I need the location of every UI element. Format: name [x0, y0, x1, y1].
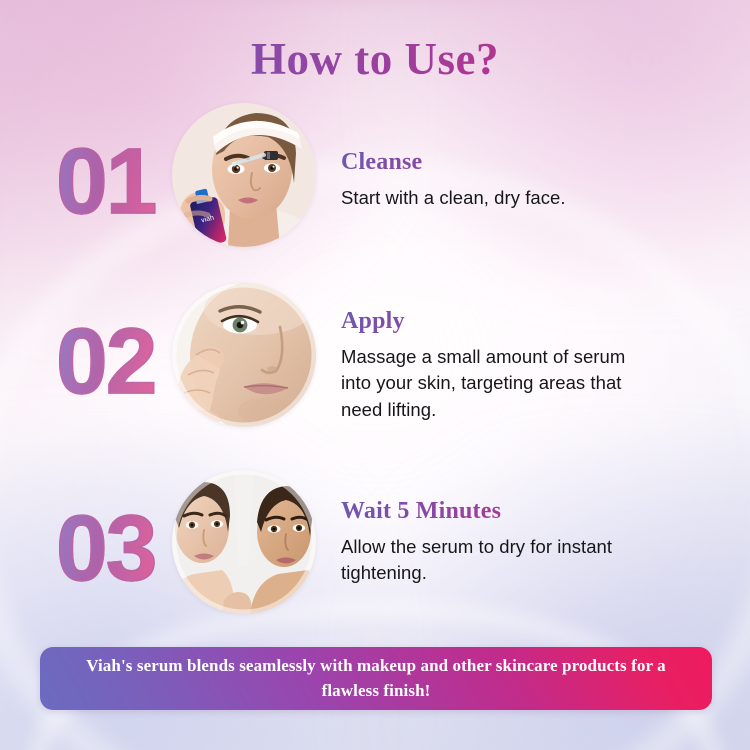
infographic-canvas: How to Use? 01 [0, 0, 750, 750]
woman-massaging-face-photo [172, 283, 316, 427]
step-body-3: Allow the serum to dry for instant tight… [341, 534, 641, 587]
step-text-2: Apply Massage a small amount of serum in… [341, 308, 641, 423]
step-number-3: 03 [56, 502, 155, 595]
footer-banner-text: Viah's serum blends seamlessly with make… [86, 654, 666, 703]
step-item-1: 01 [0, 103, 750, 258]
step-image-2 [172, 283, 316, 427]
woman-applying-serum-dropper-photo: viah [172, 103, 316, 247]
step-heading-1: Cleanse [341, 149, 641, 176]
step-image-1: viah [172, 103, 316, 247]
footer-banner: Viah's serum blends seamlessly with make… [40, 647, 712, 710]
step-body-2: Massage a small amount of serum into you… [341, 344, 641, 423]
step-image-3 [172, 470, 316, 614]
step-number-1: 01 [56, 135, 155, 228]
step-text-3: Wait 5 Minutes Allow the serum to dry fo… [341, 498, 641, 587]
step-body-1: Start with a clean, dry face. [341, 185, 641, 211]
step-item-2: 02 [0, 283, 750, 438]
step-heading-3: Wait 5 Minutes [341, 498, 641, 525]
two-women-glowing-skin-photo [172, 470, 316, 614]
step-text-1: Cleanse Start with a clean, dry face. [341, 149, 641, 211]
step-heading-2: Apply [341, 308, 641, 335]
step-number-2: 02 [56, 315, 155, 408]
step-item-3: 03 [0, 470, 750, 625]
page-title: How to Use? [0, 33, 750, 85]
